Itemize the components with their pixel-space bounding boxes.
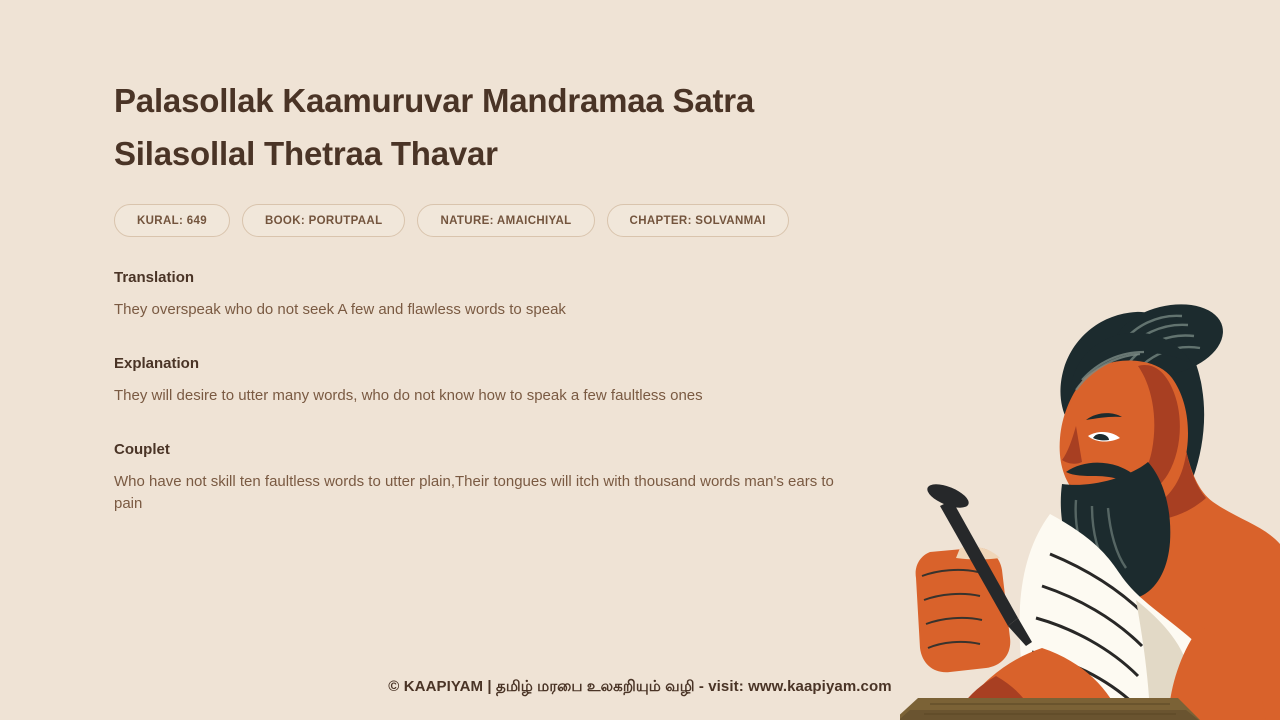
page-title-line-2: Silasollal Thetraa Thavar [114, 127, 854, 180]
couplet-label: Couplet [114, 440, 854, 459]
chip-kural-number[interactable]: KURAL: 649 [114, 204, 230, 237]
thiruvalluvar-writing-illustration [900, 300, 1280, 720]
translation-text: They overspeak who do not seek A few and… [114, 299, 854, 321]
left-hand [916, 546, 1011, 672]
chip-nature[interactable]: NATURE: AMAICHIYAL [417, 204, 594, 237]
footer-credit: © KAAPIYAM | தமிழ் மரபை உலகறியும் வழி - … [0, 678, 1280, 697]
page-title: Palasollak Kaamuruvar Mandramaa Satra Si… [114, 74, 854, 180]
meta-chip-group: KURAL: 649 BOOK: PORUTPAAL NATURE: AMAIC… [114, 204, 789, 237]
section-explanation: Explanation They will desire to utter ma… [114, 354, 854, 407]
page-title-line-1: Palasollak Kaamuruvar Mandramaa Satra [114, 74, 854, 127]
chip-chapter[interactable]: CHAPTER: SOLVANMAI [607, 204, 789, 237]
chip-book[interactable]: BOOK: PORUTPAAL [242, 204, 405, 237]
section-couplet: Couplet Who have not skill ten faultless… [114, 440, 854, 515]
kural-card: Palasollak Kaamuruvar Mandramaa Satra Si… [0, 0, 1280, 720]
explanation-text: They will desire to utter many words, wh… [114, 385, 854, 407]
palm-leaf-manuscript [900, 698, 1206, 720]
explanation-label: Explanation [114, 354, 854, 373]
section-translation: Translation They overspeak who do not se… [114, 268, 854, 321]
couplet-text: Who have not skill ten faultless words t… [114, 471, 844, 515]
translation-label: Translation [114, 268, 854, 287]
